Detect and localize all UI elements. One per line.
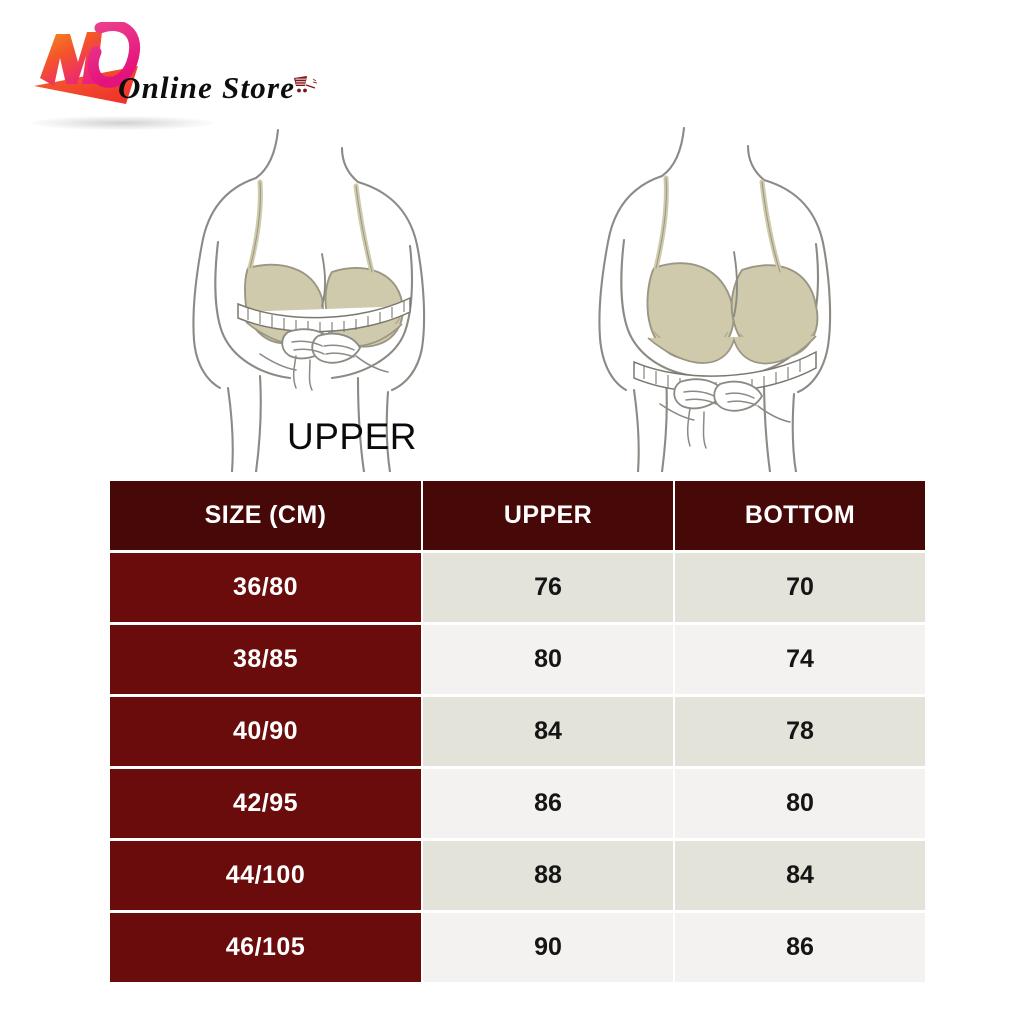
table-header-row: SIZE (CM) UPPER BOTTOM [110,481,925,550]
cell-size: 38/85 [110,625,421,694]
brand-wordmark: Online Store [118,70,295,106]
size-chart-table: SIZE (CM) UPPER BOTTOM 36/80 76 70 38/85… [108,478,927,985]
cell-upper: 80 [423,625,673,694]
cell-bottom: 86 [675,913,925,982]
cell-size: 44/100 [110,841,421,910]
cell-upper: 90 [423,913,673,982]
table-row: 44/100 88 84 [110,841,925,910]
header-bottom: BOTTOM [675,481,925,550]
illustration-upper: UPPER [110,126,510,472]
cell-bottom: 80 [675,769,925,838]
illustration-bottom: BOTTOM [508,126,908,472]
bottom-measurement-figure-icon [508,126,908,472]
cell-size: 36/80 [110,553,421,622]
header-upper: UPPER [423,481,673,550]
cell-upper: 88 [423,841,673,910]
table-row: 46/105 90 86 [110,913,925,982]
caption-upper: UPPER [152,418,552,455]
table-row: 38/85 80 74 [110,625,925,694]
table-row: 36/80 76 70 [110,553,925,622]
table-row: 40/90 84 78 [110,697,925,766]
cell-bottom: 74 [675,625,925,694]
cell-size: 46/105 [110,913,421,982]
cell-bottom: 84 [675,841,925,910]
cell-upper: 84 [423,697,673,766]
cell-bottom: 78 [675,697,925,766]
caption-bottom: BOTTOM [960,418,1024,455]
measurement-illustrations: UPPER [0,126,1024,472]
cell-upper: 76 [423,553,673,622]
cell-size: 42/95 [110,769,421,838]
cell-size: 40/90 [110,697,421,766]
cell-bottom: 70 [675,553,925,622]
header-size: SIZE (CM) [110,481,421,550]
table-row: 42/95 86 80 [110,769,925,838]
brand-logo: Online Store [18,18,358,118]
shopping-cart-icon [293,75,319,97]
cell-upper: 86 [423,769,673,838]
